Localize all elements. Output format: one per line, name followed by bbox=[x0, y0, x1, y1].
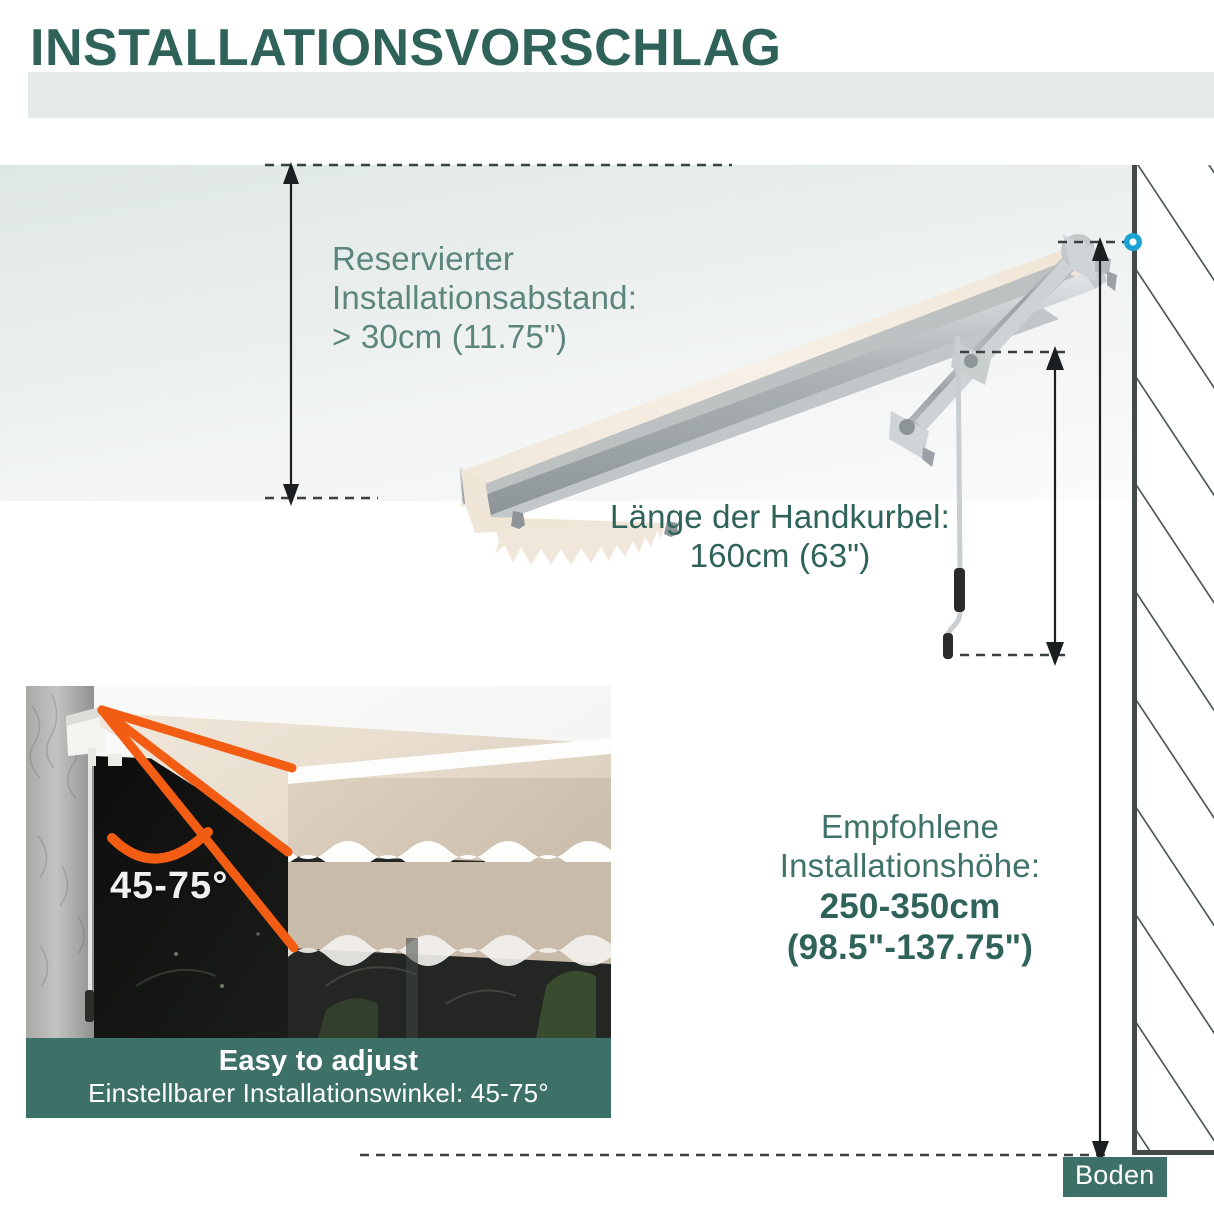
diagram-canvas: INSTALLATIONSVORSCHLAG bbox=[0, 0, 1214, 1214]
ground-label-tag: Boden bbox=[1063, 1157, 1167, 1197]
photo-caption-bar: Easy to adjust Einstellbarer Installatio… bbox=[26, 1038, 611, 1118]
label-reserved-distance-line-3: > 30cm (11.75") bbox=[332, 318, 732, 357]
dimension-install-height bbox=[1000, 225, 1200, 1175]
photo-caption-main: Easy to adjust bbox=[26, 1044, 611, 1078]
awning-photo bbox=[26, 686, 611, 1038]
photo-caption-sub: Einstellbarer Installationswinkel: 45-75… bbox=[26, 1078, 611, 1110]
label-install-height-value-1: 250-350cm bbox=[730, 886, 1090, 927]
label-crank-length-line-1: Länge der Handkurbel: bbox=[580, 498, 980, 537]
label-install-height-value-2: (98.5"-137.75") bbox=[730, 927, 1090, 968]
label-crank-length: Länge der Handkurbel: 160cm (63") bbox=[580, 498, 980, 576]
label-install-height-line-2: Installationshöhe: bbox=[730, 847, 1090, 886]
awning-photo-graphic bbox=[26, 686, 611, 1038]
title-banner bbox=[28, 72, 1214, 118]
label-install-height-line-1: Empfohlene bbox=[730, 808, 1090, 847]
label-reserved-distance-line-1: Reservierter bbox=[332, 240, 732, 279]
label-crank-length-line-2: 160cm (63") bbox=[580, 537, 980, 576]
page-title: INSTALLATIONSVORSCHLAG bbox=[30, 22, 930, 74]
label-reserved-distance-line-2: Installationsabstand: bbox=[332, 279, 732, 318]
label-install-height: Empfohlene Installationshöhe: 250-350cm … bbox=[730, 808, 1090, 968]
label-reserved-distance: Reservierter Installationsabstand: > 30c… bbox=[332, 240, 732, 357]
angle-overlay-label: 45-75° bbox=[110, 865, 228, 908]
